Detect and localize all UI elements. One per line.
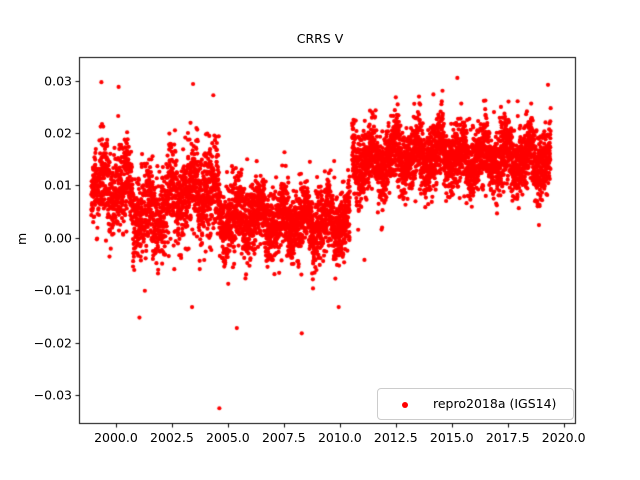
- legend-marker-icon: [402, 402, 408, 408]
- x-tick-label: 2007.5: [262, 430, 306, 445]
- y-tick-label: 0.00: [0, 230, 72, 245]
- y-tick-label: 0.01: [0, 178, 72, 193]
- x-tick-label: 2012.5: [374, 430, 418, 445]
- legend: repro2018a (IGS14): [377, 388, 574, 420]
- y-tick-label: −0.01: [0, 283, 72, 298]
- x-tick-label: 2020.0: [542, 430, 586, 445]
- y-tick-label: −0.03: [0, 388, 72, 403]
- x-tick-label: 2017.5: [486, 430, 530, 445]
- y-tick-label: 0.02: [0, 126, 72, 141]
- legend-label: repro2018a (IGS14): [433, 396, 556, 411]
- x-tick-label: 2002.5: [150, 430, 194, 445]
- x-tick-label: 2000.0: [94, 430, 138, 445]
- figure: CRRS V m 2000.02002.52005.02007.52010.02…: [0, 0, 640, 480]
- y-tick-label: −0.02: [0, 335, 72, 350]
- y-tick-label: 0.03: [0, 73, 72, 88]
- x-tick-label: 2010.0: [318, 430, 362, 445]
- x-tick-label: 2015.0: [430, 430, 474, 445]
- x-tick-label: 2005.0: [206, 430, 250, 445]
